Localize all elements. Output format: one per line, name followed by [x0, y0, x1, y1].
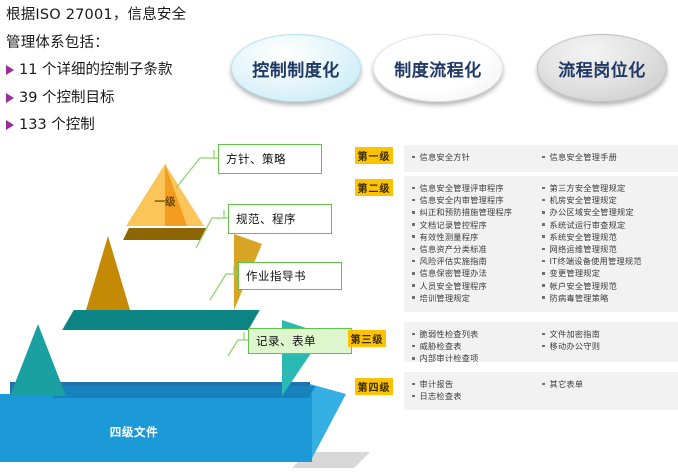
document-list-item: 变更管理规定 — [542, 267, 678, 279]
band-3-left-column: 脆弱性检查列表威胁检查表内部审计检查项 — [404, 322, 534, 362]
document-list-item: 日志检查表 — [412, 390, 534, 402]
pyramid-tier-1: 一级 — [126, 164, 212, 226]
bullet-dot-icon — [542, 296, 545, 299]
document-list-item: 其它表单 — [542, 378, 678, 390]
bullet-dot-icon — [412, 260, 415, 263]
ellipse-control-institutionalization: 控制制度化 — [231, 34, 361, 102]
document-list-item: 信息安全内审管理程序 — [412, 194, 534, 206]
document-list-item-label: 信息安全管理手册 — [550, 151, 618, 163]
document-list-item: 第三方安全管理规定 — [542, 182, 678, 194]
pyramid-tier-3-top-face — [62, 310, 260, 330]
document-list-item: 网络运维管理规范 — [542, 243, 678, 255]
band-1-right-column: 信息安全管理手册 — [534, 145, 678, 172]
level-badge-1: 第一级 — [355, 147, 393, 164]
document-list-item: 信息资产分类标准 — [412, 243, 534, 255]
document-list-item: IT终端设备使用管理规范 — [542, 255, 678, 267]
document-list-item: 文件加密指南 — [542, 328, 678, 340]
band-1-left-column: 信息安全方针 — [404, 145, 534, 172]
document-list-item: 纠正和预防措施管理程序 — [412, 206, 534, 218]
document-list-item: 帐户安全管理规范 — [542, 280, 678, 292]
callout-1-label: 方针、策略 — [226, 151, 286, 167]
bullet-dot-icon — [542, 284, 545, 287]
pyramid-tier-2: 二级文件 — [86, 228, 256, 310]
bullet-dot-icon — [412, 296, 415, 299]
bullet-dot-icon — [542, 187, 545, 190]
pyramid-tier-2-front-face — [86, 236, 130, 310]
document-band-level-1: 信息安全方针 信息安全管理手册 — [404, 145, 678, 172]
intro-bullet-3: 133 个控制 — [6, 118, 221, 133]
intro-bullet-2-label: 39 个控制目标 — [19, 91, 115, 106]
bullet-dot-icon — [412, 248, 415, 251]
document-band-level-4: 审计报告日志检查表 其它表单 — [404, 372, 678, 410]
document-list-item: 威胁检查表 — [412, 340, 534, 352]
callout-work-instruction: 作业指导书 — [238, 262, 342, 290]
document-list-item-label: 审计报告 — [420, 378, 454, 390]
document-list-item-label: 文档记录管控程序 — [420, 219, 488, 231]
document-list-item-label: 人员安全管理程序 — [420, 280, 488, 292]
document-list-item-label: 威胁检查表 — [420, 340, 462, 352]
document-list-item-label: 其它表单 — [550, 378, 584, 390]
document-list-item-label: 培训管理规定 — [420, 292, 471, 304]
triangle-bullet-icon — [6, 93, 14, 103]
pyramid-tier-2-label: 二级文件 — [108, 274, 212, 290]
callout-policy-strategy: 方针、策略 — [218, 144, 322, 174]
document-list-item-label: 信息保密管理办法 — [420, 267, 488, 279]
callout-3-label: 作业指导书 — [246, 268, 306, 284]
callout-2-label: 规范、程序 — [236, 211, 296, 227]
bullet-dot-icon — [412, 395, 415, 398]
bullet-dot-icon — [412, 345, 415, 348]
slide-canvas: 根据ISO 27001，信息安全 管理体系包括： 11 个详细的控制子条款 39… — [0, 0, 678, 414]
intro-line-1: 根据ISO 27001，信息安全 — [6, 8, 221, 23]
ellipse-3-label: 流程岗位化 — [558, 56, 646, 81]
document-list-item-label: 办公区域安全管理规定 — [550, 206, 634, 218]
triangle-bullet-icon — [6, 65, 14, 75]
bullet-dot-icon — [412, 383, 415, 386]
document-band-level-2: 信息安全管理评审程序信息安全内审管理程序纠正和预防措施管理程序文档记录管控程序有… — [404, 176, 678, 312]
bullet-dot-icon — [412, 357, 415, 360]
bullet-dot-icon — [412, 272, 415, 275]
level-badge-4: 第四级 — [355, 378, 393, 395]
bullet-dot-icon — [412, 333, 415, 336]
band-4-right-column: 其它表单 — [534, 372, 678, 410]
bullet-dot-icon — [412, 199, 415, 202]
ellipse-2-label: 制度流程化 — [394, 56, 482, 81]
document-list-item-label: 信息安全管理评审程序 — [420, 182, 504, 194]
callout-4-label: 记录、表单 — [256, 333, 316, 349]
document-list-item-label: 机房安全管理规定 — [550, 194, 618, 206]
band-3-right-column: 文件加密指南移动办公守则 — [534, 322, 678, 362]
ellipse-1-label: 控制制度化 — [252, 56, 340, 81]
callout-standard-procedure: 规范、程序 — [228, 204, 332, 234]
document-list-item-label: 纠正和预防措施管理程序 — [420, 206, 513, 218]
document-list-item-label: 信息安全方针 — [420, 151, 471, 163]
document-list-item-label: 文件加密指南 — [550, 328, 601, 340]
bullet-dot-icon — [412, 211, 415, 214]
bullet-dot-icon — [412, 223, 415, 226]
document-list-item: 系统试运行审查规定 — [542, 219, 678, 231]
document-list-item-label: 脆弱性检查列表 — [420, 328, 479, 340]
document-list-item: 信息安全方针 — [412, 151, 534, 163]
pyramid-tier-3-front-face — [10, 324, 66, 396]
document-list-item-label: 内部审计检查项 — [420, 352, 479, 364]
document-list-item: 文档记录管控程序 — [412, 219, 534, 231]
document-list-item-label: IT终端设备使用管理规范 — [550, 255, 642, 267]
document-list-item-label: 系统试运行审查规定 — [550, 219, 626, 231]
document-list-item-label: 网络运维管理规范 — [550, 243, 618, 255]
document-list-item-label: 帐户安全管理规范 — [550, 280, 618, 292]
bullet-dot-icon — [542, 248, 545, 251]
level-badge-3: 第三级 — [348, 330, 386, 347]
document-list-item-label: 移动办公守则 — [550, 340, 601, 352]
bullet-dot-icon — [542, 156, 545, 159]
band-4-left-column: 审计报告日志检查表 — [404, 372, 534, 410]
bullet-dot-icon — [542, 260, 545, 263]
document-list-item-label: 系统安全管理规范 — [550, 231, 618, 243]
bullet-dot-icon — [542, 272, 545, 275]
document-list-item-label: 第三方安全管理规定 — [550, 182, 626, 194]
document-list-item: 移动办公守则 — [542, 340, 678, 352]
pyramid-tier-2-top-face — [123, 228, 207, 240]
triangle-bullet-icon — [6, 120, 14, 130]
document-list-item: 信息安全管理手册 — [542, 151, 678, 163]
ellipse-institution-processization: 制度流程化 — [373, 34, 503, 102]
bullet-dot-icon — [412, 156, 415, 159]
callout-record-form: 记录、表单 — [248, 328, 352, 354]
bullet-dot-icon — [542, 223, 545, 226]
bullet-dot-icon — [542, 199, 545, 202]
document-list-item: 审计报告 — [412, 378, 534, 390]
document-list-item-label: 风险评估实施指南 — [420, 255, 488, 267]
document-list-item: 系统安全管理规范 — [542, 231, 678, 243]
bullet-dot-icon — [542, 211, 545, 214]
pyramid-tier-1-label: 一级 — [126, 194, 204, 209]
intro-bullet-1: 11 个详细的控制子条款 — [6, 63, 221, 78]
bullet-dot-icon — [412, 187, 415, 190]
document-list-item-label: 有效性测量程序 — [420, 231, 479, 243]
band-2-right-column: 第三方安全管理规定机房安全管理规定办公区域安全管理规定系统试运行审查规定系统安全… — [534, 176, 678, 312]
document-list-item: 培训管理规定 — [412, 292, 534, 304]
band-2-left-column: 信息安全管理评审程序信息安全内审管理程序纠正和预防措施管理程序文档记录管控程序有… — [404, 176, 534, 312]
bullet-dot-icon — [412, 284, 415, 287]
document-list-item: 办公区域安全管理规定 — [542, 206, 678, 218]
document-list-item: 内部审计检查项 — [412, 352, 534, 364]
intro-text-block: 根据ISO 27001，信息安全 管理体系包括： 11 个详细的控制子条款 39… — [6, 8, 221, 146]
bullet-dot-icon — [542, 333, 545, 336]
document-list-item-label: 信息资产分类标准 — [420, 243, 488, 255]
document-band-level-3: 脆弱性检查列表威胁检查表内部审计检查项 文件加密指南移动办公守则 — [404, 322, 678, 362]
ellipse-process-postization: 流程岗位化 — [537, 34, 667, 102]
bullet-dot-icon — [542, 235, 545, 238]
document-list-item: 防病毒管理策略 — [542, 292, 678, 304]
document-list-item: 信息安全管理评审程序 — [412, 182, 534, 194]
bullet-dot-icon — [542, 383, 545, 386]
bullet-dot-icon — [542, 345, 545, 348]
document-list-item-label: 防病毒管理策略 — [550, 292, 609, 304]
bullet-dot-icon — [412, 235, 415, 238]
pyramid-tier-3-label: 三级文件 — [40, 362, 240, 378]
document-list-item-label: 日志检查表 — [420, 390, 462, 402]
level-badge-2: 第二级 — [355, 179, 393, 196]
pyramid-tier-4-label: 四级文件 — [24, 424, 244, 440]
document-list-item: 有效性测量程序 — [412, 231, 534, 243]
document-list-item: 信息保密管理办法 — [412, 267, 534, 279]
document-list-item-label: 信息安全内审管理程序 — [420, 194, 504, 206]
document-list-item: 风险评估实施指南 — [412, 255, 534, 267]
intro-bullet-3-label: 133 个控制 — [19, 118, 95, 133]
intro-line-2: 管理体系包括： — [6, 36, 221, 51]
document-list-item: 机房安全管理规定 — [542, 194, 678, 206]
intro-bullet-1-label: 11 个详细的控制子条款 — [19, 63, 173, 78]
document-list-item: 人员安全管理程序 — [412, 280, 534, 292]
intro-bullet-2: 39 个控制目标 — [6, 91, 221, 106]
document-list-item: 脆弱性检查列表 — [412, 328, 534, 340]
document-list-item-label: 变更管理规定 — [550, 267, 601, 279]
